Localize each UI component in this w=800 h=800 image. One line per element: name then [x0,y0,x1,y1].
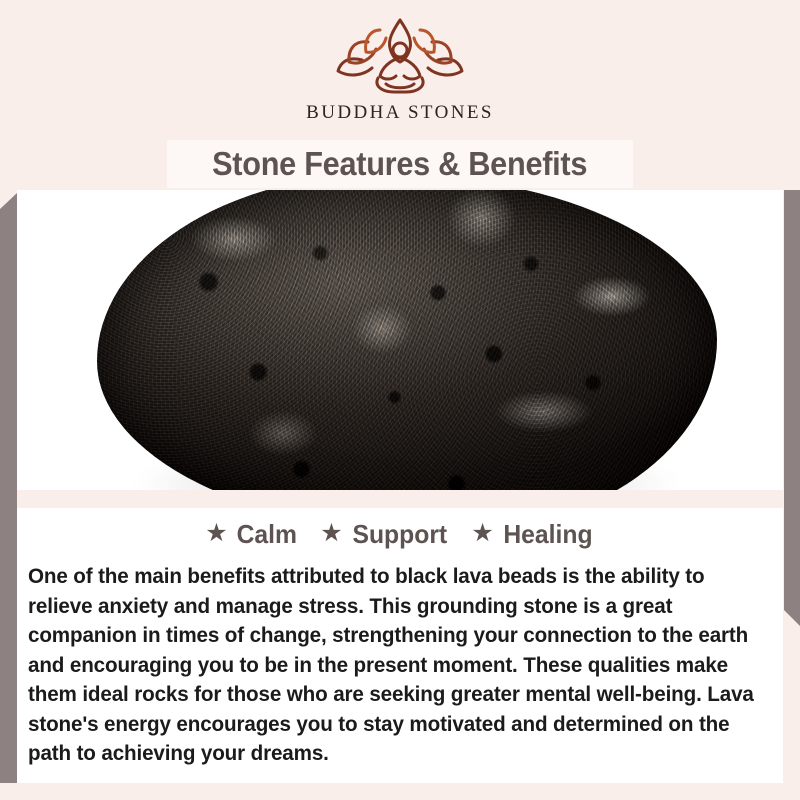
benefit-label-healing: Healing [503,519,592,550]
benefit-item-support: ★ Support [320,519,449,550]
frame-bar-left [0,193,17,800]
body-panel: ★ Calm ★ Support ★ Healing One of the ma… [17,508,783,783]
star-icon: ★ [320,521,342,546]
benefit-label-support: Support [352,519,447,550]
lava-rock-photo [97,190,717,490]
brand-name: BUDDHA STONES [306,102,494,124]
lotus-meditation-logo-icon [334,16,466,98]
benefit-item-healing: ★ Healing [471,519,594,550]
card-header: BUDDHA STONES Stone Features & Benefits [0,0,800,190]
benefit-label-calm: Calm [236,519,296,550]
description-text: One of the main benefits attributed to b… [28,562,773,769]
title-banner: Stone Features & Benefits [167,140,633,188]
benefit-item-calm: ★ Calm [205,519,298,550]
stone-info-card: BUDDHA STONES Stone Features & Benefits … [0,0,800,800]
star-icon: ★ [205,521,227,546]
star-icon: ★ [471,521,493,546]
hero-image: Lava Rock [17,190,783,490]
brand-block: BUDDHA STONES [0,16,800,124]
benefits-row: ★ Calm ★ Support ★ Healing [17,508,783,556]
rock-texture-overlay [97,190,717,490]
section-divider [17,490,783,508]
footer-strip [0,783,800,800]
page-title: Stone Features & Benefits [212,145,587,183]
